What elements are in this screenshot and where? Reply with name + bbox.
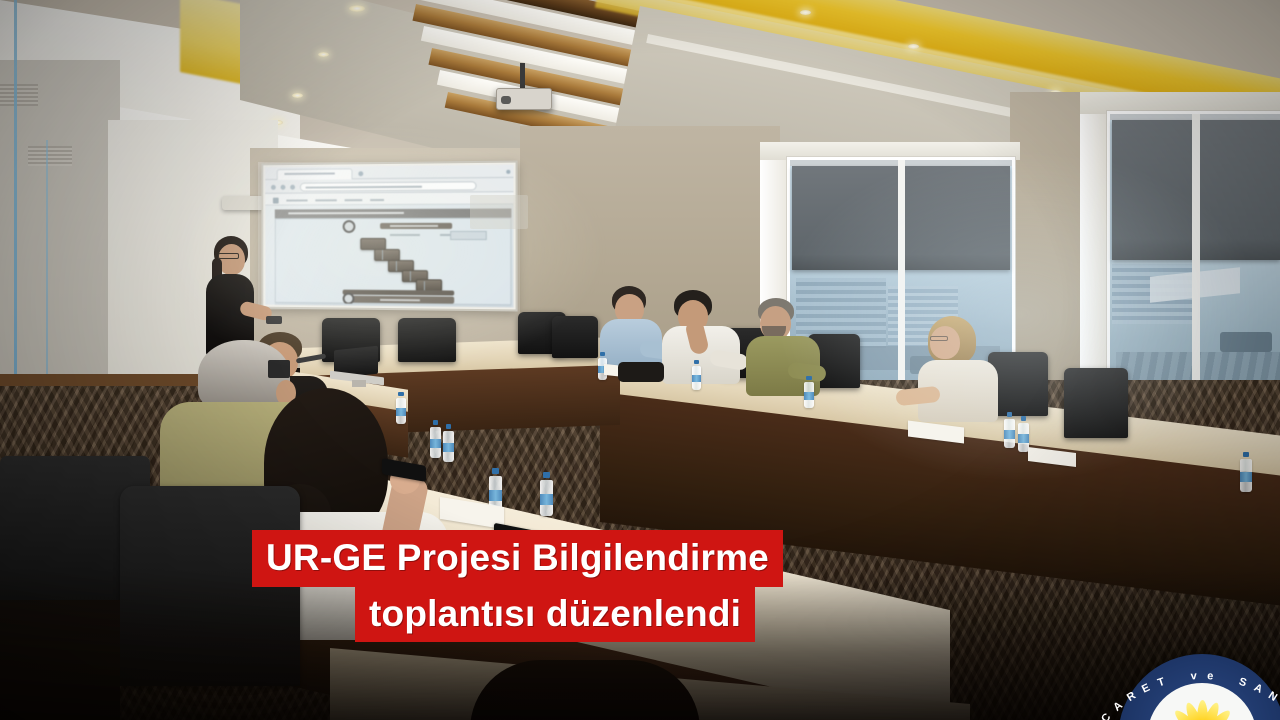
browser-back-icon: [271, 185, 276, 190]
logo-arc-char: A: [1252, 682, 1264, 696]
bottle-cap: [806, 376, 811, 380]
app-footer-label: [380, 299, 420, 301]
ceiling-spot-light: [800, 10, 811, 15]
logo-arc-char: v: [1190, 670, 1197, 682]
ceiling-spot-light: [908, 44, 919, 49]
bottle-cap: [543, 472, 550, 478]
head: [218, 244, 245, 275]
water-bottle: [396, 392, 406, 424]
app-avatar-icon: [343, 220, 356, 233]
bottle-label: [692, 375, 701, 382]
flow-connector: [396, 261, 397, 271]
presenter-remote: [266, 316, 282, 324]
ac-grille-upper: [0, 84, 38, 106]
window-right: [1106, 110, 1280, 420]
app-header-label: [390, 225, 438, 227]
app-footer-bar-1: [343, 290, 455, 296]
chair-empty: [552, 316, 598, 358]
bookmarks-folder-icon: [273, 198, 279, 204]
water-bottle: [1240, 452, 1252, 492]
bookmark-label: [286, 199, 307, 201]
headline-line-1: UR-GE Projesi Bilgilendirme: [252, 530, 783, 587]
person-foreground-silhouette: [470, 660, 700, 720]
head: [930, 326, 960, 359]
ceiling-projector: [496, 88, 552, 110]
chair-empty: [1064, 368, 1128, 438]
logo-arc-char: T: [1156, 676, 1166, 690]
projection-screen: [261, 161, 517, 312]
bottle-label: [443, 443, 454, 452]
flow-connector: [410, 271, 411, 281]
logo-arc-char: S: [1237, 676, 1248, 690]
bottle-label: [1240, 472, 1252, 482]
desk-equipment-box: [268, 360, 290, 378]
ac-grille-lower: [28, 146, 72, 166]
ceiling-spot-light: [349, 5, 365, 12]
bottle-cap: [433, 420, 439, 425]
bottle-cap: [600, 352, 605, 356]
browser-reload-icon: [290, 185, 295, 190]
bottle-label: [489, 490, 502, 501]
water-bottle: [540, 472, 553, 516]
bookmark-label: [345, 199, 363, 201]
screen-roller-housing: [222, 196, 264, 210]
bottle-label: [1004, 430, 1015, 439]
browser-new-tab-icon: [358, 171, 363, 176]
window-mullion-right: [1192, 114, 1200, 416]
wall-mounted-panel: [470, 195, 528, 229]
ceiling-spot-light: [318, 52, 329, 57]
projector-mount-arm: [520, 63, 525, 89]
glasses-icon: [930, 336, 948, 341]
bottle-cap: [446, 424, 452, 429]
organization-logo: AN TİCARET ve SANAYİ ODA: [1118, 654, 1280, 720]
flow-connector: [382, 250, 383, 260]
logo-arc-char: E: [1140, 682, 1152, 696]
app-window-title-text: [288, 212, 404, 214]
statusbar-icon: [430, 306, 434, 307]
bottle-cap: [694, 360, 699, 364]
app-subheader-label: [390, 234, 420, 236]
bottle-cap: [1243, 452, 1249, 457]
news-photo-stage: UR-GE Projesi Bilgilendirme toplantısı d…: [0, 0, 1280, 720]
browser-window-close-icon: [506, 170, 510, 174]
bottle-label: [1018, 434, 1029, 443]
logo-arc-char: N: [1266, 690, 1279, 704]
app-panel-right: [450, 231, 487, 240]
water-bottle: [1004, 412, 1015, 448]
logo-arc-char: e: [1207, 670, 1214, 682]
bottle-cap: [398, 392, 403, 396]
headline-banner: UR-GE Projesi Bilgilendirme toplantısı d…: [0, 530, 1280, 642]
monitor-stand: [352, 380, 366, 387]
browser-forward-icon: [281, 185, 286, 190]
bottle-label: [804, 392, 814, 400]
statusbar-icon: [362, 306, 366, 308]
bottle-cap: [492, 468, 499, 474]
person-attendee-white-shirt: [662, 290, 744, 382]
bookmark-label: [315, 199, 336, 201]
water-bottle: [443, 424, 454, 462]
bottle-cap: [1021, 416, 1027, 421]
bag-on-table: [618, 362, 664, 382]
headline-line-2: toplantısı düzenlendi: [355, 587, 755, 642]
bottle-label: [396, 408, 406, 416]
ceiling-spot-light: [292, 93, 303, 98]
flow-connector: [424, 281, 425, 290]
projected-image: [265, 165, 513, 308]
statusbar-icon: [420, 306, 424, 307]
statusbar-icon: [410, 306, 414, 307]
bottle-label: [430, 439, 441, 448]
water-bottle: [804, 376, 814, 408]
window-mullion-center: [898, 160, 905, 402]
water-bottle: [430, 420, 441, 458]
bookmark-label: [370, 199, 384, 201]
projector-lens: [501, 96, 511, 104]
person-attendee-blonde-beige: [918, 316, 1004, 420]
glasses-icon: [218, 253, 239, 259]
vehicle: [1220, 332, 1272, 352]
logo-arc-char: R: [1125, 690, 1138, 704]
chair-empty: [398, 318, 456, 362]
water-bottle: [692, 360, 701, 390]
bottle-cap: [1007, 412, 1013, 417]
bottle-label: [540, 494, 553, 505]
